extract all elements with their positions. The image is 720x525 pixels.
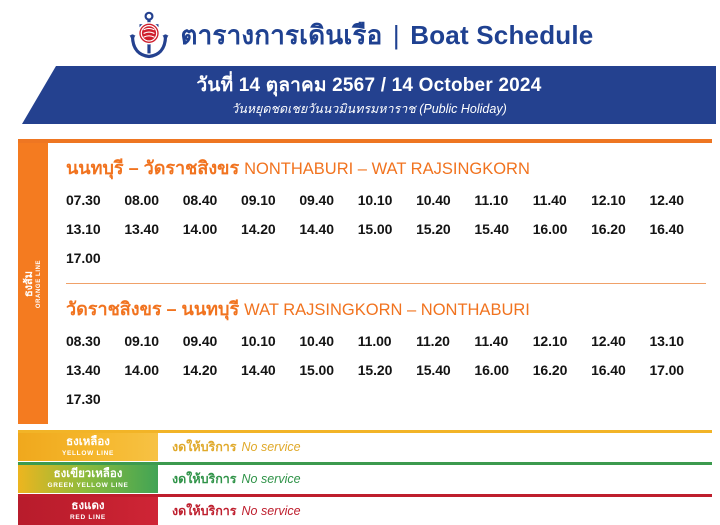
route-heading-thai: วัดราชสิงขร – นนทบุรี — [66, 299, 239, 319]
departure-time: 09.40 — [183, 327, 241, 356]
departure-time: 13.40 — [124, 215, 182, 244]
departure-time: 16.00 — [474, 356, 532, 385]
departure-time: 11.20 — [416, 327, 474, 356]
departure-times-list: 08.3009.1009.4010.1010.4011.0011.2011.40… — [66, 327, 708, 414]
date-banner: วันที่ 14 ตุลาคม 2567 / 14 October 2024 … — [22, 66, 716, 124]
flag-line-label-thai: ธงแดง — [71, 500, 104, 513]
departure-time: 14.20 — [241, 215, 299, 244]
departure-time: 08.30 — [66, 327, 124, 356]
departure-time: 15.00 — [358, 215, 416, 244]
flag-line-status-english: No service — [237, 504, 301, 518]
page-title: ตารางการเดินเรือ | Boat Schedule — [181, 15, 594, 56]
departure-time: 15.00 — [299, 356, 357, 385]
departure-time: 14.40 — [299, 215, 357, 244]
flag-line-chip: ธงแดงRED LINE — [18, 497, 158, 525]
orange-line-routes: นนทบุรี – วัดราชสิงขร NONTHABURI – WAT R… — [48, 143, 712, 424]
flag-line-status-thai: งดให้บริการ — [172, 469, 237, 489]
departure-time: 09.10 — [241, 186, 299, 215]
departure-time: 16.40 — [649, 215, 707, 244]
orange-flag-label-english: ORANGE LINE — [35, 259, 43, 307]
departure-time: 11.40 — [533, 186, 591, 215]
departure-time: 08.00 — [124, 186, 182, 215]
departure-time: 10.10 — [241, 327, 299, 356]
page-title-english: Boat Schedule — [410, 20, 593, 50]
page-title-separator: | — [390, 20, 403, 50]
departure-time: 17.00 — [66, 244, 124, 273]
route-heading: วัดราชสิงขร – นนทบุรี WAT RAJSINGKORN – … — [66, 296, 708, 323]
departure-time: 08.40 — [183, 186, 241, 215]
departure-time: 10.40 — [299, 327, 357, 356]
flag-line-row: ธงแดงRED LINEงดให้บริการNo service — [18, 494, 712, 525]
flag-line-row: ธงเขียวเหลืองGREEN YELLOW LINEงดให้บริกา… — [18, 462, 712, 493]
flag-line-status: งดให้บริการNo service — [158, 465, 712, 493]
departure-time: 17.30 — [66, 385, 124, 414]
orange-line-section: ธงส้ม ORANGE LINE นนทบุรี – วัดราชสิงขร … — [18, 139, 712, 424]
flag-line-status: งดให้บริการNo service — [158, 497, 712, 525]
departure-time: 14.20 — [183, 356, 241, 385]
flag-line-label-english: RED LINE — [70, 513, 106, 522]
departure-time: 13.10 — [649, 327, 707, 356]
departure-time: 15.20 — [358, 356, 416, 385]
departure-time: 12.10 — [533, 327, 591, 356]
departure-time: 09.40 — [299, 186, 357, 215]
route-heading: นนทบุรี – วัดราชสิงขร NONTHABURI – WAT R… — [66, 155, 708, 182]
orange-flag-label-thai: ธงส้ม — [23, 259, 35, 307]
route-block: นนทบุรี – วัดราชสิงขร NONTHABURI – WAT R… — [66, 143, 708, 283]
flag-line-status-english: No service — [237, 440, 301, 454]
departure-time: 09.10 — [124, 327, 182, 356]
departure-time: 12.40 — [591, 327, 649, 356]
flag-line-row: ธงเหลืองYELLOW LINEงดให้บริการNo service — [18, 430, 712, 461]
departure-time: 15.20 — [416, 215, 474, 244]
flag-line-label-thai: ธงเขียวเหลือง — [54, 468, 123, 481]
flag-line-chip: ธงเขียวเหลืองGREEN YELLOW LINE — [18, 465, 158, 493]
page-title-bar: ตารางการเดินเรือ | Boat Schedule — [0, 0, 720, 66]
flag-line-status-thai: งดให้บริการ — [172, 437, 237, 457]
departure-time: 11.00 — [358, 327, 416, 356]
departure-time: 07.30 — [66, 186, 124, 215]
departure-time: 12.40 — [649, 186, 707, 215]
route-block: วัดราชสิงขร – นนทบุรี WAT RAJSINGKORN – … — [66, 284, 708, 424]
flag-line-status-thai: งดให้บริการ — [172, 501, 237, 521]
route-heading-english: WAT RAJSINGKORN – NONTHABURI — [244, 301, 530, 319]
departure-time: 16.20 — [533, 356, 591, 385]
departure-time: 15.40 — [474, 215, 532, 244]
orange-line-flag-label: ธงส้ม ORANGE LINE — [18, 143, 48, 424]
departure-time: 13.40 — [66, 356, 124, 385]
date-banner-date: วันที่ 14 ตุลาคม 2567 / 14 October 2024 — [22, 72, 716, 100]
departure-time: 16.20 — [591, 215, 649, 244]
flag-line-label-english: YELLOW LINE — [62, 449, 114, 458]
route-heading-thai: นนทบุรี – วัดราชสิงขร — [66, 158, 239, 178]
departure-time: 14.40 — [241, 356, 299, 385]
page-title-thai: ตารางการเดินเรือ — [181, 20, 383, 50]
departure-times-list: 07.3008.0008.4009.1009.4010.1010.4011.10… — [66, 186, 708, 273]
departure-time: 17.00 — [649, 356, 707, 385]
departure-time: 14.00 — [124, 356, 182, 385]
departure-time: 10.10 — [358, 186, 416, 215]
departure-time: 16.40 — [591, 356, 649, 385]
flag-line-status: งดให้บริการNo service — [158, 433, 712, 461]
flag-line-status-english: No service — [237, 472, 301, 486]
departure-time: 11.10 — [474, 186, 532, 215]
departure-time: 12.10 — [591, 186, 649, 215]
departure-time: 13.10 — [66, 215, 124, 244]
departure-time: 16.00 — [533, 215, 591, 244]
departure-time: 14.00 — [183, 215, 241, 244]
departure-time: 15.40 — [416, 356, 474, 385]
departure-time: 11.40 — [474, 327, 532, 356]
flag-line-label-english: GREEN YELLOW LINE — [47, 481, 128, 490]
flag-line-label-thai: ธงเหลือง — [66, 436, 110, 449]
other-lines-section: ธงเหลืองYELLOW LINEงดให้บริการNo service… — [18, 430, 712, 525]
flag-line-chip: ธงเหลืองYELLOW LINE — [18, 433, 158, 461]
route-heading-english: NONTHABURI – WAT RAJSINGKORN — [244, 160, 530, 178]
date-banner-holiday-note: วันหยุดชดเชยวันนวมินทรมหาราช (Public Hol… — [22, 100, 716, 118]
departure-time: 10.40 — [416, 186, 474, 215]
anchor-emblem-icon — [127, 11, 171, 59]
